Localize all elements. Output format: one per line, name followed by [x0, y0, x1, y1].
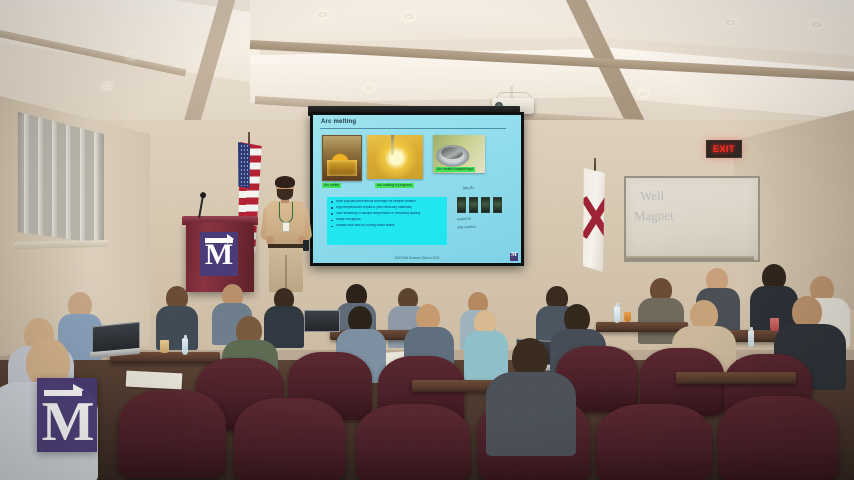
ceiling-downlight: [366, 86, 373, 90]
mrs-watermark-logo: M: [37, 378, 97, 452]
coffee-cup: [160, 340, 169, 353]
chair[interactable]: [356, 404, 470, 480]
travel-mug: [770, 318, 779, 331]
audience-body: [486, 372, 576, 456]
ceiling-downlight: [318, 12, 327, 17]
presenter-hair: [275, 176, 295, 188]
annotation-sample-photo: [457, 197, 466, 213]
slide-handwritten-annotation: Mn₃Si₁ Sealed Ta after reaction: [455, 185, 511, 245]
whiteboard-writing-line-1: Well: [640, 188, 665, 205]
ceiling-downlight: [128, 54, 135, 58]
chair[interactable]: [718, 396, 838, 480]
presenter-lanyard: [279, 202, 293, 223]
chair[interactable]: [234, 398, 346, 480]
alabama-flag: [583, 168, 605, 272]
desk: [676, 372, 796, 384]
slide-bullet-box: Most popular/conventional technique for …: [327, 197, 447, 245]
ceiling-downlight: [104, 84, 111, 88]
drink-cup: [624, 312, 631, 322]
whiteboard-writing-line-2: Magnet: [634, 207, 674, 224]
ceiling-downlight: [640, 92, 647, 96]
presenter: [262, 178, 310, 292]
slide-footer: SUSTAIN Summer School 2020: [313, 256, 521, 260]
exit-sign: EXIT: [706, 140, 742, 158]
slide-caption-3: Arc melted sample/ingot: [435, 167, 475, 172]
ceiling-downlight: [812, 22, 821, 27]
slide-title: Arc melting: [321, 119, 356, 125]
presenter-badge: [282, 222, 290, 232]
water-bottle: [614, 306, 620, 323]
paper-handout: [126, 371, 183, 390]
chair[interactable]: [596, 404, 712, 480]
slide-bullet: Little sensitivity to sample temperature…: [331, 212, 443, 216]
us-flag-union: [238, 142, 250, 188]
whiteboard: Well Magnet: [624, 176, 760, 262]
slide-logo-icon: [510, 253, 518, 261]
annotation-sample-photo: [469, 197, 478, 213]
presentation-slide: Arc melting Arc melter Arc melting in pr…: [313, 115, 521, 263]
annotation-sample-photo: [481, 197, 490, 213]
water-bottle: [182, 338, 188, 355]
presenter-pocket-device: [303, 240, 309, 251]
slide-bullet: High temperatures required (melt refract…: [331, 206, 443, 210]
slide-caption-2: Arc melting in progress: [375, 183, 414, 188]
watermark-letter: M: [37, 394, 97, 450]
podium-logo-letter: M: [200, 240, 238, 270]
annotation-note-line-1: Sealed Ta: [457, 217, 471, 223]
annotation-sample-photo: [493, 197, 502, 213]
presenter-belt: [268, 244, 304, 248]
ceiling-panel: [250, 0, 590, 43]
window-with-blinds: [18, 112, 104, 244]
annotation-note-line-2: after reaction: [457, 225, 476, 231]
chair[interactable]: [118, 390, 226, 478]
desk: [596, 322, 688, 332]
podium-logo: M: [200, 232, 238, 276]
lecture-hall-scene: EXIT Well Magnet Arc melting Arc melter …: [0, 0, 854, 480]
ceiling-downlight: [726, 20, 735, 25]
slide-photo-arc-melter: [322, 135, 362, 181]
slide-caption-1: Arc melter: [322, 183, 341, 188]
podium: M: [186, 222, 254, 292]
slide-bullet: Most popular/conventional technique for …: [331, 200, 443, 204]
slide-bullet: Sample loss ratio by cooling mixed state…: [331, 224, 443, 228]
annotation-formula: Mn₃Si₁: [463, 185, 475, 191]
whiteboard-marker-tray: [626, 256, 754, 260]
slide-photo-melting-process: [367, 135, 423, 179]
water-bottle: [748, 330, 754, 347]
ceiling-downlight: [404, 14, 413, 19]
presenter-beard: [277, 189, 293, 200]
laptop-screen[interactable]: [304, 310, 340, 332]
presenter-left-hand: [266, 236, 274, 244]
presenter-legs: [269, 247, 303, 292]
slide-bullet: Rapid throughput: [331, 218, 443, 222]
projection-screen: Arc melting Arc melter Arc melting in pr…: [310, 112, 524, 266]
exit-sign-label: EXIT: [713, 144, 735, 154]
slide-title-rule: [320, 128, 506, 129]
